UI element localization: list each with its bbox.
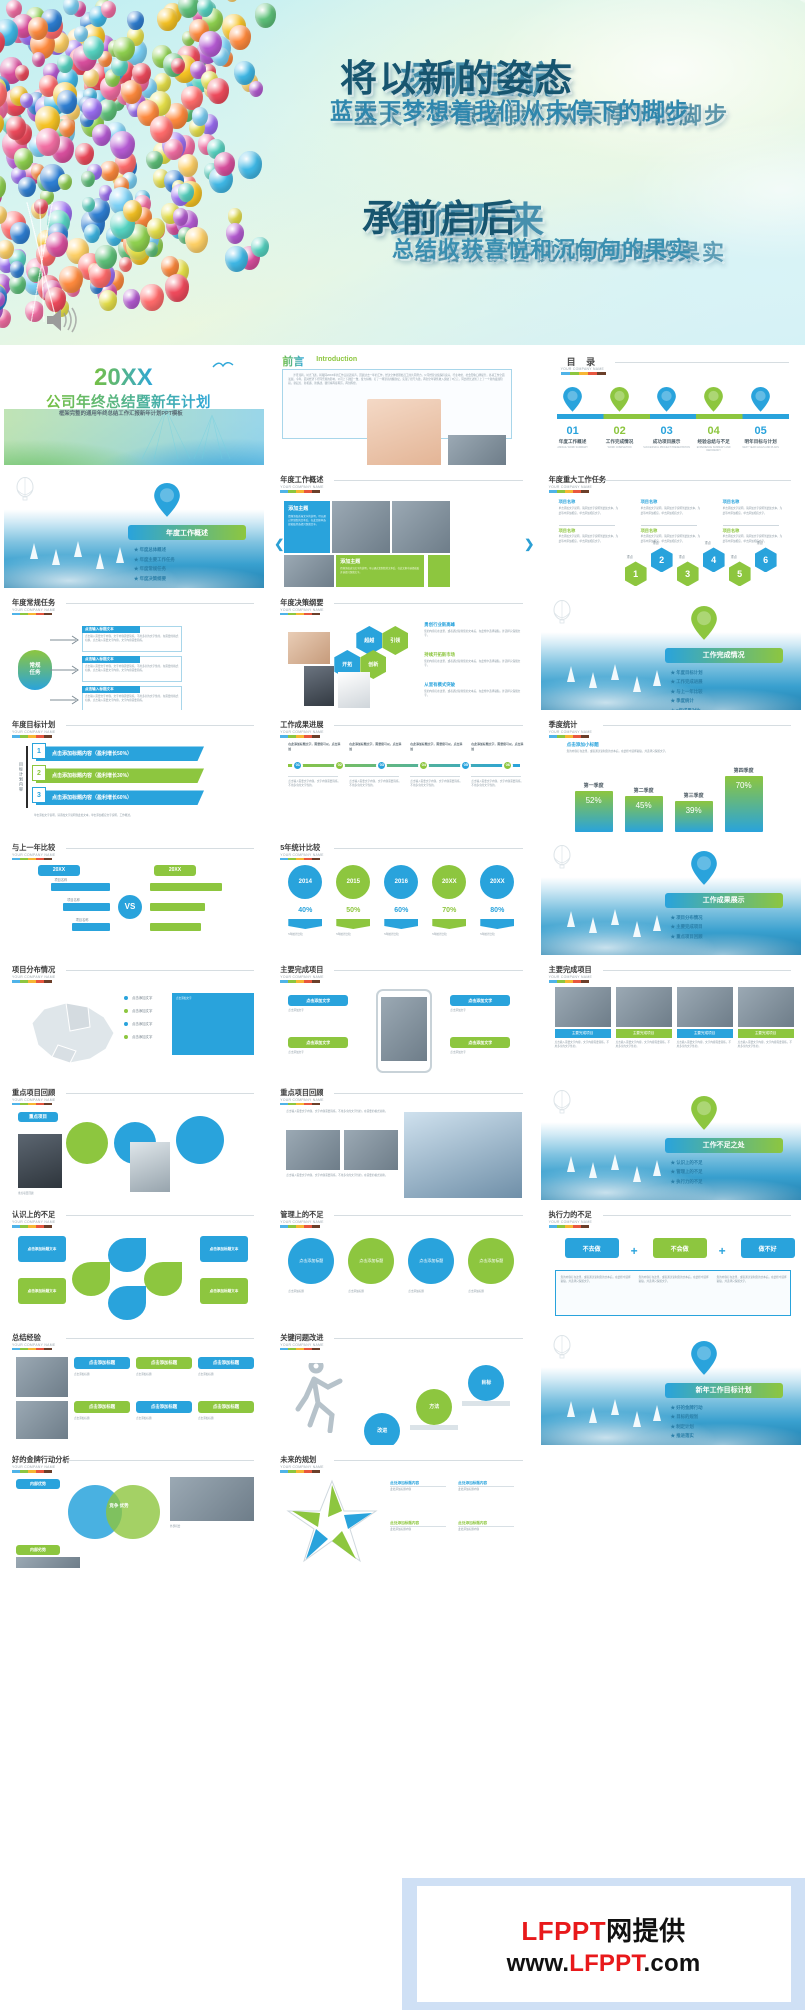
section-bullet: ★ 年度总体概述 (134, 547, 166, 553)
watermark-url-tld: .com (644, 1950, 701, 1977)
map-dot (124, 1035, 128, 1039)
hero-subtitle-1: 蓝天下梦想着我们从未停下的脚步 (330, 92, 690, 126)
year-circle: 2015 (336, 865, 370, 899)
key-badge: 重点项目 (18, 1112, 58, 1122)
slide-heading: 重点项目回顾 (280, 1088, 323, 1098)
key-circle-green (66, 1122, 108, 1164)
decision-hex[interactable]: 引领 (382, 626, 408, 655)
slide-heading: 年度工作概述 (280, 475, 323, 485)
slide-thumbnail-key-review-a[interactable]: 重点项目回顾YOUR COMPANY NAME重点项目重点项目回顾 (0, 1080, 268, 1202)
balloon (82, 98, 102, 120)
section-bullet: ★ 季度统计 (671, 698, 694, 704)
yoy-bar-left (72, 923, 110, 931)
sailboat-icon (633, 676, 641, 692)
color-ribbon (549, 1225, 589, 1228)
project-photo-body: 点击输入需要文字内容，文字内容需要简练。不用多余的文字性的。 (738, 1041, 794, 1049)
slide-canvas: 工作成果展示★ 项目分布情况★ 主要完成项目★ 重点项目回顾 (541, 837, 801, 955)
timeline-node-label: 05 (457, 762, 474, 767)
sailboat-icon (611, 909, 619, 925)
ppt-template-preview-page: 扬帆起航 将以新的姿态 蓝天下梦想着我们从未停下的脚步 蓝天下梦想着我们从未停下… (0, 0, 805, 2010)
section-bullet: ★ 与上一年比较 (671, 689, 703, 695)
gear-step[interactable]: 改进 (364, 1413, 400, 1445)
task-item-title: 项目名称 (641, 499, 658, 505)
slide-canvas: 20XX公司年终总结暨新年计划框架完整的通用年终总结工作汇报新年计划PPT模板 (4, 347, 264, 465)
progress-item-title: 在此添加标题文字，需要您可以，点击添加 (410, 742, 464, 750)
project-photo-caption: 主要完成项目 (738, 1029, 794, 1038)
heading-rule (603, 970, 791, 971)
sailboat-icon (633, 1166, 641, 1182)
balloon (57, 55, 73, 73)
slide-thumbnail-introduction[interactable]: 前言Introduction岁月流转，时光飞逝，转眼间20XX年的工作又接近尾声… (268, 345, 536, 467)
future-body: 此处添加标题内容 (458, 1528, 516, 1532)
future-body: 此处添加标题内容 (458, 1488, 516, 1492)
balloon (157, 8, 178, 32)
quarter-category-label: 第二季度 (621, 787, 667, 794)
cognition-label[interactable]: 点击添加标题文本 (200, 1236, 248, 1262)
task-item-body-2: 单击添加文字说明，请添加文字说明到此处文本，为此等中添加相应。单击添加相应文字。 (559, 535, 619, 543)
hex-step-6[interactable]: 6 (755, 547, 777, 572)
overview-photo-1 (332, 501, 390, 553)
toc-pin-01[interactable] (563, 387, 582, 417)
balloon (214, 152, 235, 176)
progress-item-title: 在此添加标题文字，需要您可以，点击添加 (349, 742, 403, 750)
phone-screen (381, 997, 427, 1061)
year-ribbon (384, 919, 418, 929)
balloon (225, 246, 248, 272)
company-name-label: YOUR COMPANY NAME (12, 730, 55, 734)
watermark-line-2: www.LFPPT.com (507, 1950, 701, 1978)
heading-rule (66, 848, 254, 849)
slide-thumbnail-section-4[interactable]: 工作不足之处★ 认识上的不足★ 管理上的不足★ 执行力的不足 (537, 1080, 805, 1202)
balloon (249, 81, 263, 97)
balloon (127, 11, 144, 30)
slide-thumbnail-key-review-b[interactable]: 重点项目回顾YOUR COMPANY NAME点击输入需要文字内容，文字内容需要… (268, 1080, 536, 1202)
sailboat-icon (653, 1405, 661, 1421)
balloon (32, 52, 45, 67)
heading-rule (334, 970, 522, 971)
map-pin-icon (691, 1096, 717, 1130)
year-circle: 2014 (288, 865, 322, 899)
map-pin-icon (563, 387, 582, 412)
slide-thumbnail-swot[interactable]: 好的金牌行动分析YOUR COMPANY NAME竞争 优势内部优势内部劣势外部… (0, 1447, 268, 1569)
balloon (92, 124, 111, 146)
yoy-category-label: 项目名称 (55, 877, 68, 882)
color-ribbon (549, 490, 589, 493)
balloon (225, 0, 239, 2)
execution-item[interactable]: 不去做 (565, 1238, 619, 1258)
section-bullet: ★ 年度目标计划 (671, 670, 703, 676)
sailboat-icon (611, 664, 619, 680)
swot-photo-2 (16, 1557, 80, 1567)
project-photo-caption: 主要完成项目 (555, 1029, 611, 1038)
slide-heading: 年度目标计划 (12, 720, 55, 730)
toc-label-cn: 年度工作概述 (549, 439, 597, 445)
timeline-track (288, 764, 520, 767)
project-label[interactable]: 点击添加文字 (288, 995, 348, 1006)
slide-thumbnail-cover[interactable]: 20XX公司年终总结暨新年计划框架完整的通用年终总结工作汇报新年计划PPT模板 (0, 345, 268, 467)
quarterly-subtitle: 点击添加小标题 (567, 742, 599, 748)
slide-heading: 年度决策纲要 (280, 598, 323, 608)
slide-thumbnail-progress[interactable]: 工作成果进展YOUR COMPANY NAME010203040506在此添加标… (268, 712, 536, 834)
slide-thumbnail-toc[interactable]: 目 录YOUR COMPANY NAME01年度工作概述ANNUAL WORK … (537, 345, 805, 467)
carousel-next-icon[interactable]: ❯ (524, 537, 532, 551)
project-photo (616, 987, 672, 1027)
color-ribbon (12, 1348, 52, 1351)
balloon (178, 154, 198, 177)
toc-pin-03[interactable] (657, 387, 676, 417)
slide-canvas: 年度重大工作任务YOUR COMPANY NAME项目名称单击添加文字说明，请添… (541, 469, 801, 587)
slide-thumbnail-routine-tasks[interactable]: 年度常规任务YOUR COMPANY NAME常规任务点击输入标题文本点击输入需… (0, 590, 268, 712)
color-ribbon (280, 980, 320, 983)
routine-box-title: 点击输入标题文本 (82, 626, 140, 633)
balloon (207, 78, 230, 104)
slide-heading: 未来的规划 (280, 1455, 316, 1465)
balloon (140, 284, 164, 311)
slide-thumbnail-yoy[interactable]: 与上一年比较YOUR COMPANY NAME20XX20XXVS项目名称项目名… (0, 835, 268, 957)
intro-body-text: 岁月流转，时光飞逝，转眼间20XX年的工作又接近尾声。回顾过去一年的工作，经过全… (288, 374, 506, 386)
hands-photo (367, 399, 441, 465)
timeline-node-label: 04 (415, 762, 432, 767)
petal[interactable] (72, 1262, 110, 1296)
slide-heading: 认识上的不足 (12, 1210, 55, 1220)
slide-canvas: 认识上的不足YOUR COMPANY NAME点击添加标题文本点击添加标题文本点… (4, 1204, 264, 1322)
slide-canvas: 目 录YOUR COMPANY NAME01年度工作概述ANNUAL WORK … (541, 347, 801, 465)
company-name-label: YOUR COMPANY NAME (12, 608, 55, 612)
year-body: 5年统计比较 (288, 933, 324, 937)
slide-thumbnail-annual-goals[interactable]: 年度目标计划YOUR COMPANY NAME目标计划内容1点击添加标题内容（盈… (0, 712, 268, 834)
task-item-title-2: 项目名称 (723, 528, 740, 534)
overview-card-green-title: 添加主题 (340, 558, 360, 565)
project-label-body: 点击添加文字 (288, 1009, 346, 1013)
slide-thumbnail-overview[interactable]: 年度工作概述YOUR COMPANY NAME添加主题四角添加适当文字的说明，可… (268, 467, 536, 589)
petal[interactable] (144, 1262, 182, 1296)
section-bullet: ★ 重点项目回顾 (671, 934, 703, 940)
decision-hex[interactable]: 超越 (356, 626, 382, 655)
map-pin-icon (691, 606, 717, 640)
slide-canvas: 管理上的不足YOUR COMPANY NAME点击添加标题点击添加标题点击添加标… (272, 1204, 532, 1322)
task-item-body: 单击添加文字说明，请添加文字说明到此处文本，为此等中添加相应。单击添加相应文字。 (559, 507, 619, 515)
management-body: 点击添加标题 (288, 1290, 338, 1294)
sailboat-icon (611, 1154, 619, 1170)
balloon (28, 17, 48, 40)
sailboat-icon (116, 547, 124, 563)
color-ribbon (12, 613, 52, 616)
hex-step-3[interactable]: 3 (677, 561, 699, 586)
slide-thumbnail-quarterly[interactable]: 季度统计YOUR COMPANY NAME点击添加小标题您的内容打在这里，或者通… (537, 712, 805, 834)
project-photo (677, 987, 733, 1027)
gear-step[interactable]: 方法 (416, 1389, 452, 1425)
slide-canvas: 工作不足之处★ 认识上的不足★ 管理上的不足★ 执行力的不足 (541, 1082, 801, 1200)
carousel-prev-icon[interactable]: ❮ (274, 537, 284, 551)
heading-rule (66, 603, 254, 604)
watermark-line-1: LFPPT网提供 (521, 1911, 685, 1948)
company-name-label: YOUR COMPANY NAME (12, 1343, 55, 1347)
timeline-node-label: 06 (499, 762, 516, 767)
slide-canvas: 执行力的不足YOUR COMPANY NAME不去做+不会做+做不好您的内容打在… (541, 1204, 801, 1322)
goal-row-number: 3 (32, 787, 46, 803)
slide-canvas: 重点项目回顾YOUR COMPANY NAME点击输入需要文字内容，文字内容需要… (272, 1082, 532, 1200)
company-name-label: YOUR COMPANY NAME (280, 1220, 323, 1224)
heading-rule (66, 1338, 254, 1339)
sailboat-icon (567, 1401, 575, 1417)
person-photo-a (18, 1134, 62, 1188)
company-name-label: YOUR COMPANY NAME (549, 485, 592, 489)
project-label[interactable]: 点击添加文字 (288, 1037, 348, 1048)
slide-canvas: 总结经验YOUR COMPANY NAME点击添加标题点击添加标题点击添加标题点… (4, 1327, 264, 1445)
balloon (234, 61, 255, 85)
swot-label-1[interactable]: 内部优势 (16, 1479, 60, 1489)
slide-heading: 主要完成项目 (280, 965, 323, 975)
slide-thumbnail-decision-outline[interactable]: 年度决策纲要YOUR COMPANY NAME超越引领开拓创新勇创行业新高峰您的… (268, 590, 536, 712)
quarter-value-label: 39% (675, 806, 713, 815)
color-ribbon (12, 980, 52, 983)
hero-subtitle-2: 总结收获喜悦和沉甸甸的果实 (392, 232, 691, 264)
watermark-card: LFPPT网提供 www.LFPPT.com (417, 1886, 791, 2002)
slide-thumbnail-future-plan[interactable]: 未来的规划YOUR COMPANY NAME此处添加标题内容此处添加标题内容此处… (268, 1447, 536, 1569)
gear-step[interactable]: 目标 (468, 1365, 504, 1401)
hot-air-balloon-icon (553, 1090, 571, 1114)
summary-body: 点击添加标题 (74, 1373, 130, 1377)
hex-step-4[interactable]: 4 (703, 547, 725, 572)
map-dot (124, 996, 128, 1000)
yoy-bar-left (51, 883, 111, 891)
company-name-label: YOUR COMPANY NAME (12, 1220, 55, 1224)
project-photo-caption: 主要完成项目 (677, 1029, 733, 1038)
yoy-bar-left (63, 903, 110, 911)
slide-heading: 项目分布情况 (12, 965, 55, 975)
slide-thumbnail-execution[interactable]: 执行力的不足YOUR COMPANY NAME不去做+不会做+做不好您的内容打在… (537, 1202, 805, 1324)
task-item-title: 项目名称 (723, 499, 740, 505)
future-body: 此处添加标题内容 (390, 1528, 448, 1532)
slide-canvas: 主要完成项目YOUR COMPANY NAME点击添加文字点击添加文字点击添加文… (272, 959, 532, 1077)
heading-rule (66, 1093, 254, 1094)
toc-pin-04[interactable] (704, 387, 723, 417)
sailboat-icon (653, 670, 661, 686)
task-item-title: 项目名称 (559, 499, 576, 505)
toc-pin-05[interactable] (751, 387, 770, 417)
slide-thumbnail-key-factor[interactable]: 关键问题改进YOUR COMPANY NAME改进方法目标 (268, 1325, 536, 1447)
arrow-icon (50, 694, 82, 706)
map-label: 点击添加文字 (132, 1021, 152, 1026)
hot-air-balloon-icon (553, 1335, 571, 1359)
management-circle[interactable]: 点击添加标题 (348, 1238, 394, 1284)
sailboat-icon (633, 1411, 641, 1427)
balloon (251, 237, 269, 257)
color-ribbon (280, 1470, 320, 1473)
slide-thumbnail-main-projects-b[interactable]: 主要完成项目YOUR COMPANY NAME主要完成项目点击输入需要文字内容，… (537, 957, 805, 1079)
heading-rule (603, 725, 791, 726)
task-item-body-2: 单击添加文字说明，请添加文字说明到此处文本，为此等中添加相应。单击添加相应文字。 (723, 535, 783, 543)
sailboat-icon (74, 541, 82, 557)
arrow-icon (50, 634, 82, 646)
company-name-label: YOUR COMPANY NAME (280, 853, 323, 857)
year-body: 5年统计比较 (384, 933, 420, 937)
project-label-body: 点击添加文字 (288, 1051, 346, 1055)
goal-row-text: 点击添加标题内容（盈利增长50%） (52, 750, 132, 757)
sailboat-icon (567, 666, 575, 682)
balloon-strings (0, 202, 132, 322)
routine-box-title: 点击输入标题文本 (82, 686, 140, 693)
key-b-caption: 点击输入需要文字内容，文字内容需要简练。不用多余的文字性的，在需要的格式切换。 (286, 1174, 396, 1178)
summary-label[interactable]: 点击添加标题 (136, 1357, 192, 1369)
hex-step-1[interactable]: 1 (625, 561, 647, 586)
sailboat-icon (633, 921, 641, 937)
color-ribbon (280, 1348, 320, 1351)
company-name-label: YOUR COMPANY NAME (561, 367, 604, 371)
slide-canvas: 年度决策纲要YOUR COMPANY NAME超越引领开拓创新勇创行业新高峰您的… (272, 592, 532, 710)
petal[interactable] (108, 1238, 146, 1272)
project-label[interactable]: 点击添加文字 (450, 1037, 510, 1048)
color-ribbon (280, 735, 320, 738)
slide-heading: 管理上的不足 (280, 1210, 323, 1220)
slide-thumbnail-section-5[interactable]: 新年工作目标计划★ 好的金牌行动★ 目标的规划★ 制定计划★ 推进落实 (537, 1325, 805, 1447)
overview-card-title: 添加主题 (288, 505, 308, 512)
swot-label-2[interactable]: 内部劣势 (16, 1545, 60, 1555)
decision-point-title: 勇创行业新高峰 (424, 622, 455, 628)
yoy-category-label: 项目名称 (67, 897, 80, 902)
toc-number: 04 (700, 425, 728, 437)
slide-thumbnail-five-year[interactable]: 5年统计比较YOUR COMPANY NAME201440%5年统计比较2015… (268, 835, 536, 957)
slide-thumbnail-section-2[interactable]: 工作完成情况★ 年度目标计划★ 工作完成进展★ 与上一年比较★ 季度统计★ 5年… (537, 590, 805, 712)
cognition-label[interactable]: 点击添加标题文本 (200, 1278, 248, 1304)
heading-rule (66, 1460, 254, 1461)
balloon-cluster (0, 0, 340, 316)
map-pin-icon (704, 387, 723, 412)
watermark-provider-text: 网提供 (606, 1916, 686, 1946)
hex-step-5[interactable]: 5 (729, 561, 751, 586)
execution-body: 您的内容打在这里，或者通过复制您的文本后，在此框中选择粘贴，并选择只保留文字。 (717, 1276, 789, 1284)
management-body: 点击添加标题 (348, 1290, 398, 1294)
color-ribbon (12, 1225, 52, 1228)
color-ribbon (12, 735, 52, 738)
heading-rule (334, 480, 522, 481)
slide-canvas: 新年工作目标计划★ 好的金牌行动★ 目标的规划★ 制定计划★ 推进落实 (541, 1327, 801, 1445)
slide-heading: 总结经验 (12, 1333, 41, 1343)
hex-step-2[interactable]: 2 (651, 547, 673, 572)
section-bullet: ★ 目标的规划 (671, 1414, 699, 1420)
toc-label-en: SUCCESSFUL PROJECT PRESENTATION (643, 446, 691, 449)
person-photo-b (130, 1142, 170, 1192)
progress-item-body: 点击输入需要文字内容，文字内容需要简练。不用多余的文字性的。 (288, 780, 342, 788)
project-photo (738, 987, 794, 1027)
summary-label-2[interactable]: 点击添加标题 (198, 1401, 254, 1413)
map-info-box (172, 993, 254, 1055)
sailboat-icon (611, 1399, 619, 1415)
key-b-photo-3 (404, 1112, 522, 1198)
progress-item-title: 在此添加标题文字，需要您可以，点击添加 (471, 742, 525, 750)
toc-label-cn: 成功项目展示 (643, 439, 691, 445)
swot-photo-1 (170, 1477, 254, 1521)
heading-rule (334, 1460, 522, 1461)
slide-thumbnail-main-projects-a[interactable]: 主要完成项目YOUR COMPANY NAME点击添加文字点击添加文字点击添加文… (268, 957, 536, 1079)
map-pin-icon (691, 1341, 717, 1375)
yoy-bar-right (150, 923, 201, 931)
slide-canvas: 年度常规任务YOUR COMPANY NAME常规任务点击输入标题文本点击输入需… (4, 592, 264, 710)
slide-thumbnail-major-tasks[interactable]: 年度重大工作任务YOUR COMPANY NAME项目名称单击添加文字说明，请添… (537, 467, 805, 589)
cover-year: 20XX (94, 364, 153, 392)
quarter-category-label: 第三季度 (671, 792, 717, 799)
plus-sign: + (719, 1244, 726, 1258)
management-circle[interactable]: 点击添加标题 (288, 1238, 334, 1284)
management-circle[interactable]: 点击添加标题 (408, 1238, 454, 1284)
hot-air-balloon-icon (16, 477, 34, 501)
section-label: 工作成果展示 (665, 893, 783, 908)
summary-body-2: 点击添加标题 (136, 1417, 192, 1421)
slide-thumbnail-cognition[interactable]: 认识上的不足YOUR COMPANY NAME点击添加标题文本点击添加标题文本点… (0, 1202, 268, 1324)
project-label[interactable]: 点击添加文字 (450, 995, 510, 1006)
year-circle: 20XX (432, 865, 466, 899)
task-item-title-2: 项目名称 (559, 528, 576, 534)
intro-title-cn: 前言 (282, 353, 304, 369)
slide-thumbnail-summary[interactable]: 总结经验YOUR COMPANY NAME点击添加标题点击添加标题点击添加标题点… (0, 1325, 268, 1447)
execution-item[interactable]: 做不好 (741, 1238, 795, 1258)
section-bullet: ★ 年度主要工作任务 (134, 557, 175, 563)
slide-thumbnail-section-1[interactable]: 年度工作概述★ 年度总体概述★ 年度主要工作任务★ 年度常规任务★ 年度决策纲要 (0, 467, 268, 589)
balloon (164, 139, 183, 161)
toc-pin-02[interactable] (610, 387, 629, 417)
slide-heading: 5年统计比较 (280, 843, 320, 853)
summary-label-2[interactable]: 点击添加标题 (74, 1401, 130, 1413)
balloon (178, 183, 194, 202)
map-pin-icon (751, 387, 770, 412)
swot-center-label: 竞争 优势 (102, 1503, 136, 1509)
company-name-label: YOUR COMPANY NAME (12, 853, 55, 857)
year-ribbon (336, 919, 370, 929)
quarterly-subbody: 您的内容打在这里，或者通过复制您的文本后，在此框中选择粘贴，并选择只保留文字。 (567, 750, 767, 754)
handshake-photo (288, 632, 330, 664)
hex-step-label: 重点 (679, 554, 685, 559)
decision-point-body: 您的内容打在这里，或者通过复制您的文本后，在此框中选择粘贴，并选择只保留文字。 (424, 660, 524, 668)
summary-label[interactable]: 点击添加标题 (74, 1357, 130, 1369)
year-percent: 80% (477, 907, 517, 914)
timeline-node-label: 01 (289, 762, 306, 767)
section-bullet: ★ 好的金牌行动 (671, 1405, 703, 1411)
balloon (36, 128, 61, 156)
cognition-label[interactable]: 点击添加标题文本 (18, 1278, 66, 1304)
color-ribbon (12, 1470, 52, 1473)
summary-label-2[interactable]: 点击添加标题 (136, 1401, 192, 1413)
runner-silhouette (288, 1363, 348, 1433)
toc-label-en: NEXT YEAR GOALS AND PLANS (737, 446, 785, 449)
color-ribbon (549, 980, 589, 983)
color-ribbon (12, 858, 52, 861)
summary-label[interactable]: 点击添加标题 (198, 1357, 254, 1369)
section-bullet: ★ 项目分布情况 (671, 915, 703, 921)
heading-rule (334, 1338, 522, 1339)
progress-item-title: 在此添加标题文字，需要您可以，点击添加 (288, 742, 342, 750)
slide-thumbnail-distribution[interactable]: 项目分布情况YOUR COMPANY NAME点击添加文字点击添加文字点击添加文… (0, 957, 268, 1079)
section-bullet: ★ 管理上的不足 (671, 1169, 703, 1175)
section-bullet: ★ 推进落实 (671, 1433, 694, 1439)
hex-step-label: 重点 (757, 540, 763, 545)
slide-heading: 季度统计 (549, 720, 578, 730)
management-circle[interactable]: 点击添加标题 (468, 1238, 514, 1284)
slide-thumbnail-section-3b[interactable]: 工作成果展示★ 项目分布情况★ 主要完成项目★ 重点项目回顾 (537, 835, 805, 957)
slide-heading: 主要完成项目 (549, 965, 592, 975)
slide-heading: 重点项目回顾 (12, 1088, 55, 1098)
cognition-label[interactable]: 点击添加标题文本 (18, 1236, 66, 1262)
balloon (238, 151, 262, 179)
sailboat-icon (589, 917, 597, 933)
execution-item[interactable]: 不会做 (653, 1238, 707, 1258)
heading-rule (615, 362, 789, 363)
person-photo (304, 666, 334, 706)
cover-subtitle: 框架完整的通用年终总结工作汇报新年计划PPT模板 (59, 409, 183, 417)
year-percent: 70% (429, 907, 469, 914)
slide-thumbnail-management[interactable]: 管理上的不足YOUR COMPANY NAME点击添加标题点击添加标题点击添加标… (268, 1202, 536, 1324)
petal[interactable] (108, 1286, 146, 1320)
slide-canvas: 年度工作概述★ 年度总体概述★ 年度主要工作任务★ 年度常规任务★ 年度决策纲要 (4, 469, 264, 587)
